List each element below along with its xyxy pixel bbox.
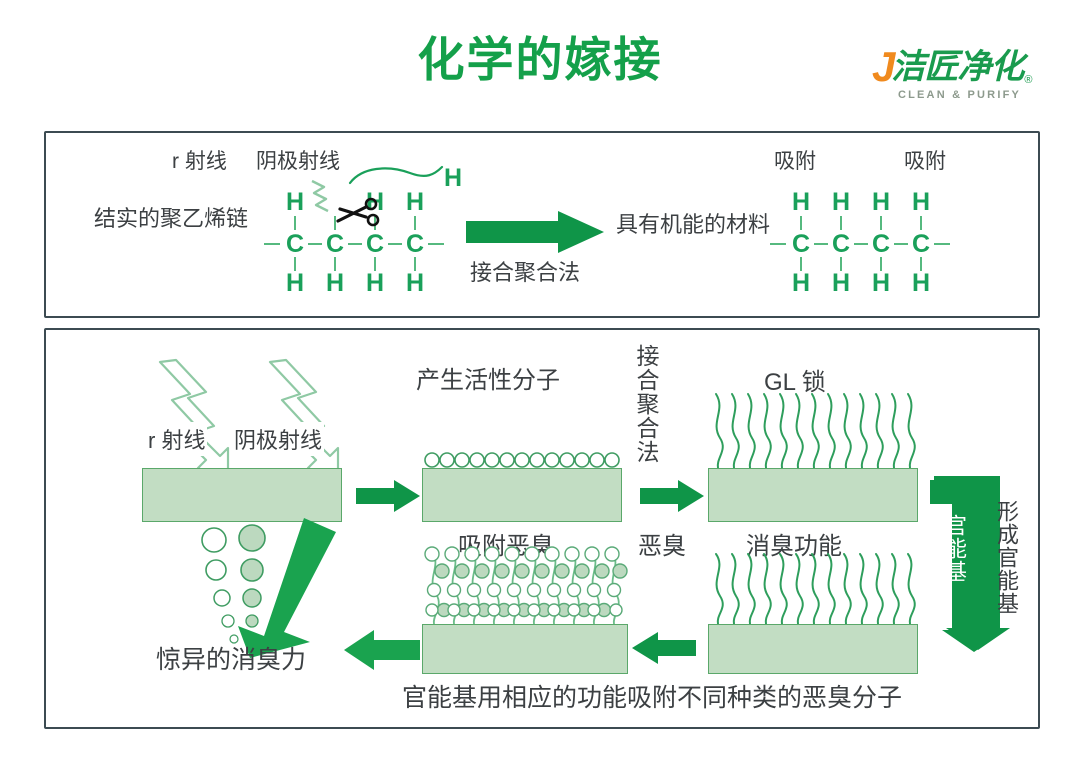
panel-deodorization-cycle: r 射线 阴极射线 惊异的消臭力 产生活性分子: [44, 328, 1040, 729]
hydrogen-escape-curve: [350, 167, 442, 183]
atom-c-4: C: [404, 230, 426, 259]
arrow-step1-to-step2: [356, 480, 420, 512]
bond-r-c2-c3: [854, 243, 868, 245]
bond-c3-c4: [388, 243, 402, 245]
ray-zigzag-icon: [312, 181, 328, 211]
bond-r-top-2: [840, 216, 842, 230]
substrate-bar-adsorbed: [422, 624, 628, 674]
bond-r-c3-c4: [894, 243, 908, 245]
slide-root: 化学的嫁接 J 洁匠净化 ® CLEAN & PURIFY r 射线 阴极射线 …: [0, 0, 1080, 764]
bond-left-end: [264, 243, 280, 245]
atom-h-bottom-3: H: [364, 269, 386, 298]
bottom-label-amazing-deodor-power: 惊异的消臭力: [156, 640, 306, 676]
arrow-step2-to-step3: [640, 480, 704, 512]
atom-r-h-top-1: H: [790, 188, 812, 217]
adsorbed-odor-molecules: [422, 546, 630, 626]
bond-r-top-1: [800, 216, 802, 230]
arrow-graft-polymerization: [466, 211, 604, 253]
bottom-label-cathode-ray: 阴极射线: [232, 422, 324, 456]
brand-logo: J 洁匠净化 ® CLEAN & PURIFY: [872, 40, 1057, 110]
functional-group-waves-bottom: [708, 552, 920, 626]
bottom-label-odor: 恶臭: [638, 526, 686, 561]
atom-r-c-4: C: [910, 230, 932, 259]
atom-r-h-top-2: H: [830, 188, 852, 217]
bottom-caption: 官能基用相应的功能吸附不同种类的恶臭分子: [402, 678, 902, 714]
scissors-icon: [334, 191, 384, 233]
top-label-graft-method: 接合聚合法: [470, 255, 580, 287]
atom-r-c-3: C: [870, 230, 892, 259]
atom-c-2: C: [324, 230, 346, 259]
bottom-label-active-molecule: 产生活性分子: [416, 360, 560, 395]
top-label-polyethylene-chain: 结实的聚乙烯链: [94, 201, 248, 233]
atom-r-h-bottom-4: H: [910, 269, 932, 298]
bond-c2-c3: [348, 243, 362, 245]
logo-wordmark: J 洁匠净化 ®: [872, 40, 1057, 86]
atom-r-h-bottom-3: H: [870, 269, 892, 298]
arrow-step5-to-result: [344, 630, 420, 670]
bond-r-top-3: [880, 216, 882, 230]
panel-grafting-reaction: r 射线 阴极射线 结实的聚乙烯链 H H H H C C C C: [44, 131, 1040, 318]
bond-c1-c2: [308, 243, 322, 245]
substrate-bar-activated: [422, 468, 622, 522]
substrate-bar-plain: [142, 468, 342, 522]
bond-r-c1-c2: [814, 243, 828, 245]
functional-group-waves-top: [708, 392, 920, 470]
atom-h-bottom-1: H: [284, 269, 306, 298]
bottom-label-functional-group: 官能基: [938, 514, 970, 583]
arrow-deodorizing-power: [232, 518, 342, 658]
logo-chinese-name: 洁匠净化: [891, 48, 1023, 86]
bottom-label-form-functional-group: 形成官能基: [990, 500, 1022, 615]
registered-trademark-icon: ®: [1024, 74, 1032, 86]
arrow-step4-to-step5: [632, 632, 696, 664]
logo-english-name: CLEAN & PURIFY: [872, 89, 1047, 101]
bond-right-end: [428, 243, 444, 245]
atom-h-bottom-2: H: [324, 269, 346, 298]
top-label-adsorb-2: 吸附: [904, 145, 946, 175]
bolt-arrow-cathode-icon: [270, 360, 338, 482]
bond-r-right-end: [934, 243, 950, 245]
atom-c-3: C: [364, 230, 386, 259]
atom-r-c-1: C: [790, 230, 812, 259]
bond-r-left-end: [770, 243, 786, 245]
atom-c-1: C: [284, 230, 306, 259]
atom-r-h-top-3: H: [870, 188, 892, 217]
atom-r-h-bottom-1: H: [790, 269, 812, 298]
bottom-label-graft-method: 接合聚合法: [629, 344, 663, 464]
atom-r-h-top-4: H: [910, 188, 932, 217]
bond-r-top-4: [920, 216, 922, 230]
top-label-adsorb-1: 吸附: [774, 145, 816, 175]
top-label-functional-material: 具有机能的材料: [616, 207, 770, 239]
top-label-gamma-ray: r 射线: [172, 145, 227, 175]
bottom-label-gamma-ray: r 射线: [146, 422, 207, 456]
active-sites-circles: [424, 448, 620, 470]
atom-h-bottom-4: H: [404, 269, 426, 298]
substrate-bar-grafted: [708, 468, 918, 522]
substrate-bar-grafted-bottom: [708, 624, 918, 674]
atom-r-c-2: C: [830, 230, 852, 259]
bolt-arrow-gamma-icon: [160, 360, 228, 482]
atom-r-h-bottom-2: H: [830, 269, 852, 298]
